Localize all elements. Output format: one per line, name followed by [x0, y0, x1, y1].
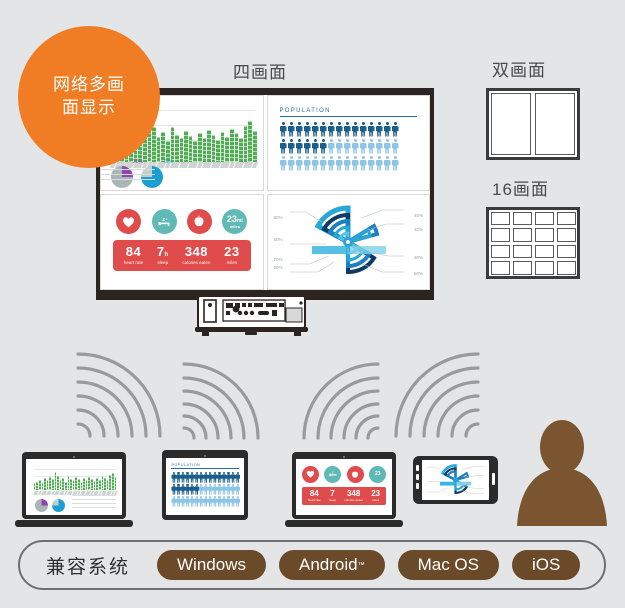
bar — [102, 476, 104, 490]
health-icon-row: Z z — [111, 209, 253, 234]
radial-chart-graphic — [270, 196, 426, 288]
bar — [91, 479, 93, 490]
phone-bezel — [413, 456, 498, 504]
sixteen-cell — [491, 245, 510, 259]
laptop-health: Z 23 84heart rate7sleep348calories eaten… — [292, 452, 396, 527]
laptop-bezel: Z 23 84heart rate7sleep348calories eaten… — [292, 452, 396, 519]
health-stat-unit: h — [165, 252, 169, 258]
population-row — [280, 139, 420, 154]
sleep-bed-icon: Z — [324, 466, 341, 483]
person-icon — [203, 496, 207, 507]
os-pill-label: Windows — [177, 555, 246, 575]
bar — [161, 132, 165, 162]
person-icon — [212, 496, 216, 507]
mini-population-rule — [171, 468, 238, 469]
bar — [212, 135, 216, 162]
miles-badge-icon: 23mi miles — [222, 209, 247, 234]
bar — [49, 477, 51, 491]
person-icon — [384, 122, 391, 137]
os-pill-ios[interactable]: iOS — [512, 550, 580, 580]
heart-icon — [302, 466, 319, 483]
radial-label-1: 50% — [274, 237, 283, 242]
sixteen-cell — [513, 261, 532, 275]
phone-display — [422, 460, 489, 500]
bar — [175, 135, 179, 162]
person-icon — [304, 139, 311, 154]
tablet-bezel: POPULATION — [162, 450, 248, 520]
health-stat-label: calories eaten — [182, 260, 210, 266]
bar — [244, 126, 248, 162]
bar — [216, 140, 220, 162]
person-icon — [212, 472, 216, 483]
phone-side-buttons[interactable] — [416, 465, 419, 492]
person-icon — [176, 472, 180, 483]
sixteen-cell — [557, 261, 576, 275]
person-icon — [185, 472, 189, 483]
sixteen-cell — [513, 228, 532, 242]
person-icon — [344, 122, 351, 137]
laptop-display — [26, 459, 122, 515]
person-icon — [360, 122, 367, 137]
person-icon — [384, 156, 391, 171]
radial-label-6: 30% — [414, 255, 423, 260]
bar — [86, 480, 88, 490]
bar — [60, 480, 62, 490]
bar — [253, 131, 257, 162]
person-icon — [312, 156, 319, 171]
apple-icon — [187, 209, 212, 234]
panel-population: POPULATION — [267, 95, 431, 191]
sixteen-cell — [491, 212, 510, 226]
bar — [104, 478, 106, 490]
radial-label-3: 50% — [274, 265, 283, 270]
os-pill-windows[interactable]: Windows — [157, 550, 266, 580]
person-icon — [288, 122, 295, 137]
person-icon — [226, 484, 230, 495]
person-icon — [235, 484, 239, 495]
person-icon — [352, 122, 359, 137]
health-stat-value: 23 — [371, 490, 380, 498]
population-row — [171, 484, 238, 495]
bar — [83, 478, 85, 490]
person-icon — [221, 496, 225, 507]
health-stats-bar: 84heart rate7hsleep348calories eaten23mi… — [113, 240, 251, 271]
mini-population-pictogram — [171, 472, 238, 507]
person-icon — [312, 139, 319, 154]
person-icon — [376, 156, 383, 171]
person-icon — [212, 484, 216, 495]
person-icon — [320, 122, 327, 137]
population-row — [171, 496, 238, 507]
miles-badge-icon: 23 — [369, 466, 386, 483]
bar — [180, 138, 184, 162]
bar — [239, 138, 243, 162]
laptop-display: Z 23 84heart rate7sleep348calories eaten… — [296, 459, 392, 515]
laptop-bezel — [22, 452, 126, 519]
axis-tick — [252, 162, 258, 168]
mini-health-stats-bar: 84heart rate7sleep348calories eaten23mil… — [302, 487, 387, 505]
health-stat-label: sleep — [157, 260, 169, 266]
mini-miles-value: 23 — [375, 471, 381, 477]
miles-value: 23 — [227, 214, 237, 224]
person-icon — [208, 484, 212, 495]
mini-population-title: POPULATION — [171, 463, 238, 467]
person-icon — [320, 156, 327, 171]
bar — [42, 483, 44, 491]
bar — [171, 127, 175, 162]
heart-icon — [116, 209, 141, 234]
sixteen-cell — [557, 245, 576, 259]
bar — [94, 481, 96, 490]
panel-radial-chart: 80% 50% 70% 50% 40% 40% 30% 50% — [267, 194, 431, 290]
sixteen-cell — [535, 212, 554, 226]
mini-pies — [35, 499, 65, 512]
person-icon — [185, 496, 189, 507]
bar — [39, 480, 41, 490]
wifi-signal-icon-4 — [392, 344, 484, 440]
health-stat-value: 348 — [344, 490, 363, 498]
health-stat: 7sleep — [329, 490, 336, 502]
dual-screen-diagram — [486, 88, 580, 160]
mini-text-lines — [72, 492, 116, 511]
person-icon — [181, 484, 185, 495]
bar — [99, 480, 101, 490]
title-dual-screen: 双画面 — [492, 56, 546, 81]
person-icon — [231, 496, 235, 507]
radial-label-7: 50% — [414, 271, 423, 276]
bar — [109, 475, 111, 490]
bar — [225, 137, 229, 162]
person-icon — [217, 484, 221, 495]
laptop-base — [15, 520, 133, 527]
trademark-symbol: ™ — [358, 562, 365, 569]
person-icon — [288, 156, 295, 171]
bar — [88, 477, 90, 491]
bar — [75, 477, 77, 490]
wifi-signal-icon-2 — [180, 350, 272, 442]
sixteen-cell — [535, 245, 554, 259]
person-icon — [392, 139, 399, 154]
badge-line-2: 面显示 — [62, 97, 116, 120]
sixteen-cell — [557, 212, 576, 226]
sixteen-cell — [535, 261, 554, 275]
person-icon — [312, 122, 319, 137]
person-icon — [194, 484, 198, 495]
person-icon — [231, 484, 235, 495]
sixteen-cell — [491, 228, 510, 242]
mini-health-dashboard: Z 23 84heart rate7sleep348calories eaten… — [296, 459, 392, 515]
health-stat-value: 7h — [157, 245, 169, 258]
person-icon — [376, 139, 383, 154]
health-stat-label: heart rate — [124, 260, 143, 266]
sixteen-cell — [513, 212, 532, 226]
wifi-signal-icon-1 — [72, 344, 164, 440]
health-stat: 84heart rate — [124, 245, 143, 266]
health-stat-label: miles — [224, 260, 239, 266]
person-icon — [280, 139, 287, 154]
radial-label-0: 80% — [274, 215, 283, 220]
health-stat: 348calories eaten — [344, 490, 363, 502]
radial-label-5: 40% — [414, 227, 423, 232]
person-icon — [328, 156, 335, 171]
person-icon — [221, 484, 225, 495]
person-icon — [336, 139, 343, 154]
os-pill-label: iOS — [532, 555, 560, 575]
person-icon — [368, 139, 375, 154]
bar — [152, 127, 156, 162]
bar — [55, 472, 57, 491]
person-icon — [304, 122, 311, 137]
os-pill-label: Mac OS — [418, 555, 479, 575]
radial-label-2: 70% — [274, 257, 283, 262]
webcam-icon — [204, 455, 206, 457]
webcam-icon — [343, 456, 345, 458]
infographic-stage: 网络多画 面显示 四画面 双画面 16画面 25% — [0, 0, 625, 608]
health-stat-value: 23 — [224, 245, 239, 258]
tablet-population: POPULATION — [162, 450, 248, 520]
sixteen-cell — [535, 228, 554, 242]
person-icon — [199, 472, 203, 483]
sixteen-cell — [557, 228, 576, 242]
webcam-icon — [73, 456, 75, 458]
bar — [203, 138, 207, 162]
person-silhouette-icon — [513, 420, 611, 526]
person-icon — [194, 472, 198, 483]
radial-label-4: 40% — [414, 213, 423, 218]
person-icon — [360, 156, 367, 171]
person-icon — [176, 496, 180, 507]
person-icon — [296, 122, 303, 137]
health-stat-label: sleep — [329, 499, 336, 502]
mini-health-icons: Z 23 — [302, 466, 387, 483]
person-icon — [288, 139, 295, 154]
person-icon — [360, 139, 367, 154]
health-stat-value: 84 — [308, 490, 321, 498]
health-stat-value: 84 — [124, 245, 143, 258]
health-stat-label: miles — [371, 499, 380, 502]
compatibility-label: 兼容系统 — [46, 552, 130, 579]
person-icon — [368, 122, 375, 137]
person-icon — [190, 496, 194, 507]
person-icon — [376, 122, 383, 137]
os-pill-label: Android — [299, 555, 358, 575]
health-stat-value: 7 — [329, 490, 336, 498]
miles-label: miles — [227, 225, 243, 229]
svg-text:Z: Z — [332, 470, 334, 474]
bar — [112, 473, 114, 490]
bar — [235, 133, 239, 162]
bar — [189, 136, 193, 162]
person-icon — [208, 472, 212, 483]
person-icon — [392, 156, 399, 171]
person-icon — [176, 484, 180, 495]
mini-bars — [34, 471, 117, 490]
bar — [34, 483, 36, 490]
person-icon — [181, 496, 185, 507]
phone-radar — [413, 456, 498, 504]
person-icon — [217, 496, 221, 507]
person-icon — [208, 496, 212, 507]
laptop-green-chart — [22, 452, 126, 527]
title-quad-screen: 四画面 — [233, 58, 287, 83]
projector-icon — [190, 292, 313, 338]
person-icon — [352, 156, 359, 171]
person-icon — [203, 472, 207, 483]
bar — [230, 129, 234, 162]
sixteen-cell — [491, 261, 510, 275]
svg-text:z: z — [166, 217, 168, 220]
person-icon — [221, 472, 225, 483]
person-icon — [336, 156, 343, 171]
bar — [248, 121, 252, 162]
tablet-display: POPULATION — [166, 458, 244, 515]
miles-unit: mi — [237, 218, 243, 224]
screen-frame-right — [430, 95, 434, 290]
mini-pie-25 — [35, 499, 48, 512]
population-row — [171, 472, 238, 483]
os-pill-android[interactable]: Android™ — [279, 550, 385, 580]
population-title: POPULATION — [280, 108, 420, 114]
person-icon — [194, 496, 198, 507]
person-icon — [336, 122, 343, 137]
bar — [107, 480, 109, 490]
bar — [78, 479, 80, 490]
wifi-signal-icon-3 — [290, 350, 382, 442]
person-icon — [280, 156, 287, 171]
health-stat-label: heart rate — [308, 499, 321, 502]
person-icon — [190, 484, 194, 495]
person-icon — [328, 139, 335, 154]
person-icon — [171, 484, 175, 495]
dual-cell — [491, 93, 531, 155]
network-multiscreen-badge: 网络多画 面显示 — [18, 26, 160, 168]
phone-home-button[interactable] — [492, 473, 495, 485]
bar — [198, 133, 202, 162]
person-icon — [217, 472, 221, 483]
person-icon — [352, 139, 359, 154]
laptop-base — [285, 520, 403, 527]
bar — [52, 479, 54, 490]
mini-green-chart — [26, 459, 122, 515]
person-icon — [190, 472, 194, 483]
os-pill-mac-os[interactable]: Mac OS — [398, 550, 499, 580]
health-stat: 7hsleep — [157, 245, 169, 266]
person-icon — [344, 139, 351, 154]
bar — [62, 478, 64, 490]
bar — [115, 477, 117, 490]
person-icon — [280, 122, 287, 137]
bar — [193, 141, 197, 162]
person-icon — [181, 472, 185, 483]
svg-text:Z: Z — [162, 216, 165, 221]
population-row — [280, 122, 420, 137]
health-stat: 23miles — [224, 245, 239, 266]
person-icon — [344, 156, 351, 171]
bar — [81, 482, 83, 491]
bar — [157, 137, 161, 162]
person-icon — [203, 484, 207, 495]
person-icon — [320, 139, 327, 154]
person-icon — [226, 496, 230, 507]
person-icon — [296, 139, 303, 154]
compatibility-bar: 兼容系统 WindowsAndroid™Mac OSiOS — [18, 540, 606, 590]
person-icon — [328, 122, 335, 137]
health-stat: 23miles — [371, 490, 380, 502]
bar — [68, 476, 70, 491]
person-icon — [296, 156, 303, 171]
population-pictogram — [278, 122, 420, 171]
person-icon — [171, 472, 175, 483]
apple-icon — [347, 466, 364, 483]
os-pill-group: WindowsAndroid™Mac OSiOS — [157, 550, 580, 580]
bar — [47, 480, 49, 490]
person-icon — [226, 472, 230, 483]
person-icon — [199, 496, 203, 507]
bar — [184, 131, 188, 162]
person-icon — [368, 156, 375, 171]
bar — [57, 476, 59, 491]
pie-75-label: 75% — [163, 159, 173, 165]
bar — [96, 478, 98, 490]
badge-line-1: 网络多画 — [53, 74, 125, 97]
person-icon — [185, 484, 189, 495]
title-sixteen-screen: 16画面 — [492, 175, 549, 200]
population-row — [280, 156, 420, 171]
dual-cell — [535, 93, 575, 155]
panel-health-dashboard: Z z — [100, 194, 264, 290]
person-icon — [235, 472, 239, 483]
person-icon — [171, 496, 175, 507]
person-icon — [235, 496, 239, 507]
bar — [65, 482, 67, 491]
person-icon — [231, 472, 235, 483]
bar — [36, 482, 38, 491]
mini-radial-chart — [422, 460, 489, 500]
bar — [70, 479, 72, 490]
health-stat-label: calories eaten — [344, 499, 363, 502]
health-stat: 348calories eaten — [182, 245, 210, 266]
health-stat-value: 348 — [182, 245, 210, 258]
bar — [221, 132, 225, 162]
person-icon — [304, 156, 311, 171]
health-stat: 84heart rate — [308, 490, 321, 502]
population-rule — [280, 116, 418, 117]
sleep-bed-icon: Z z — [152, 209, 177, 234]
person-icon — [199, 484, 203, 495]
person-icon — [384, 139, 391, 154]
mini-population-chart: POPULATION — [166, 458, 244, 515]
bar — [44, 478, 46, 490]
green-chart-pies: 25% 75% — [111, 166, 163, 188]
bar — [73, 480, 75, 490]
sixteen-cell — [513, 245, 532, 259]
person-icon — [392, 122, 399, 137]
sixteen-screen-diagram — [486, 207, 580, 279]
mini-pie-75 — [52, 499, 65, 512]
bar — [207, 130, 211, 162]
